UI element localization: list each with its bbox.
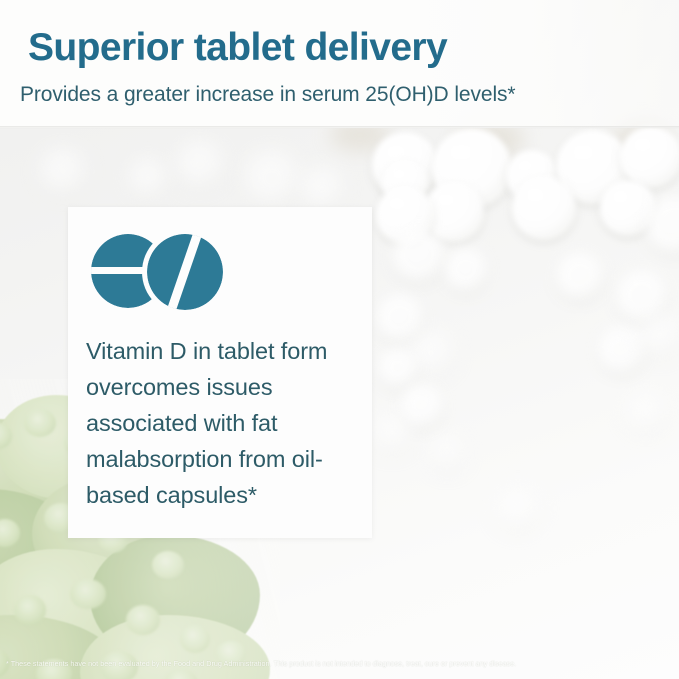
header-divider	[0, 126, 679, 129]
feature-card: Vitamin D in tablet form overcomes issue…	[68, 207, 372, 538]
promo-banner: Superior tablet delivery Provides a grea…	[0, 0, 679, 679]
fda-disclaimer: * These statements have not been evaluat…	[6, 659, 676, 668]
page-title: Superior tablet delivery	[28, 28, 447, 67]
two-tablets-icon	[88, 232, 228, 310]
feature-card-text: Vitamin D in tablet form overcomes issue…	[86, 333, 358, 513]
page-subtitle: Provides a greater increase in serum 25(…	[20, 84, 516, 105]
